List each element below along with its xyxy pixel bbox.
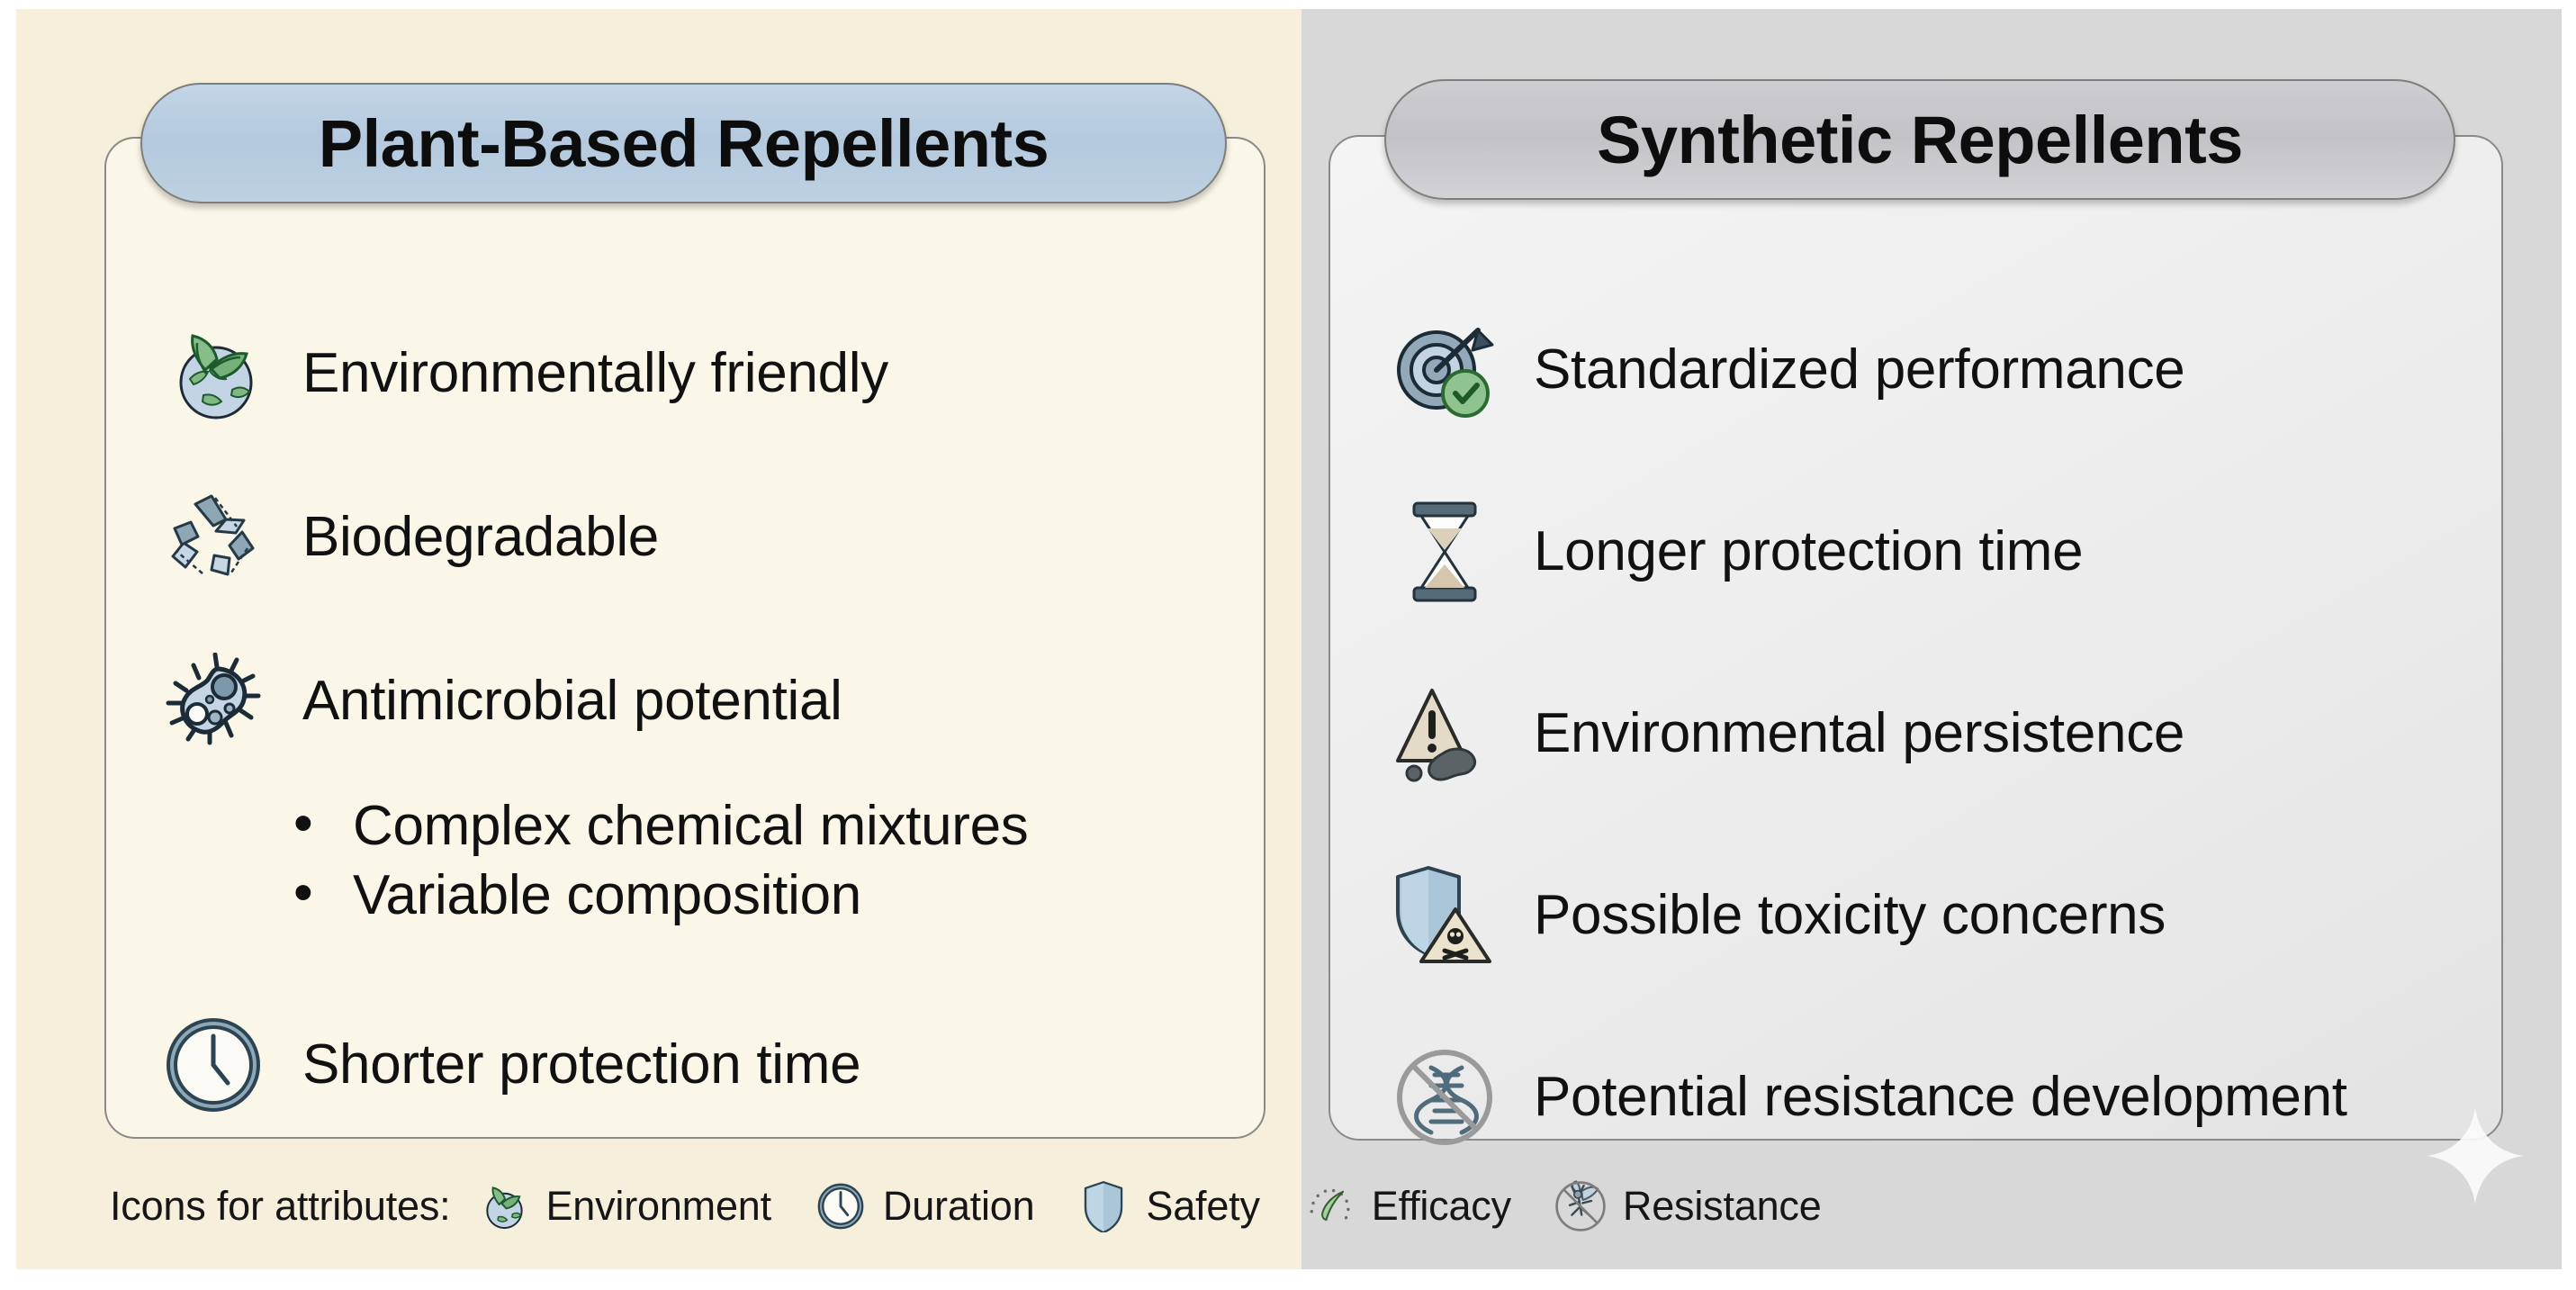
synthetic-title-pill: Synthetic Repellents	[1384, 79, 2455, 200]
feature-label: Environmental persistence	[1534, 704, 2184, 763]
legend-item-resistance: Resistance	[1553, 1178, 1822, 1234]
feature-row: Environmentally friendly	[155, 292, 1264, 456]
clock-icon	[813, 1178, 869, 1234]
feature-label: Longer protection time	[1534, 522, 2083, 582]
feature-row: Biodegradable	[155, 456, 1264, 619]
dna-prohibited-icon	[1386, 1044, 1503, 1150]
feature-label: Shorter protection time	[302, 1035, 860, 1095]
infographic-canvas: Environmentally friendly	[0, 0, 2576, 1290]
legend-title: Icons for attributes:	[110, 1183, 450, 1230]
synthetic-feature-list: Standardized performance Longer protecti…	[1330, 279, 2501, 1188]
list-item: Complex chemical mixtures	[286, 792, 1264, 862]
legend-label: Efficacy	[1372, 1183, 1511, 1230]
feature-row: Shorter protection time	[155, 983, 1264, 1147]
legend-label: Duration	[883, 1183, 1035, 1230]
recycle-icon	[155, 484, 272, 591]
feature-label: Standardized performance	[1534, 340, 2184, 400]
plant-based-repellents-card: Environmentally friendly	[104, 137, 1265, 1139]
page-title: Plant-Based Repellents	[319, 105, 1049, 182]
plant-based-feature-list: Environmentally friendly	[106, 292, 1264, 1147]
feature-label: Biodegradable	[302, 508, 659, 567]
mosquito-prohibited-icon	[1553, 1178, 1608, 1234]
legend-label: Safety	[1146, 1183, 1259, 1230]
plant-based-title-pill: Plant-Based Repellents	[140, 83, 1227, 203]
feature-row: Longer protection time	[1386, 461, 2501, 643]
warning-oil-spill-icon	[1386, 681, 1503, 787]
page-title: Synthetic Repellents	[1597, 102, 2243, 178]
feature-label: Antimicrobial potential	[302, 672, 842, 731]
feature-row: Antimicrobial potential	[155, 619, 1264, 783]
clock-icon	[155, 1012, 272, 1118]
feature-label: Possible toxicity concerns	[1534, 886, 2166, 945]
feature-label: Potential resistance development	[1534, 1068, 2347, 1126]
target-check-icon	[1386, 317, 1503, 423]
feature-row: Standardized performance	[1386, 279, 2501, 461]
legend-bar: Icons for attributes: Environment	[16, 1159, 2562, 1253]
feature-label: Environmentally friendly	[302, 344, 888, 403]
legend-item-efficacy: Efficacy	[1302, 1178, 1511, 1234]
legend-item-environment: Environment	[475, 1178, 770, 1234]
feature-row: Possible toxicity concerns	[1386, 825, 2501, 1006]
efficacy-gauge-icon	[1302, 1178, 1357, 1234]
legend-item-duration: Duration	[813, 1178, 1035, 1234]
feature-row: Environmental persistence	[1386, 643, 2501, 825]
legend-label: Resistance	[1623, 1183, 1822, 1230]
earth-leaf-icon	[155, 320, 272, 427]
synthetic-repellents-card: Standardized performance Longer protecti…	[1329, 135, 2503, 1141]
earth-leaf-icon	[475, 1178, 531, 1234]
microbe-icon	[155, 648, 272, 754]
list-item: Variable composition	[286, 862, 1264, 931]
shield-skull-icon	[1386, 862, 1503, 969]
hourglass-icon	[1386, 499, 1503, 605]
shield-icon	[1076, 1178, 1131, 1234]
plant-based-bullet-list: Complex chemical mixtures Variable compo…	[155, 792, 1264, 931]
legend-label: Environment	[545, 1183, 770, 1230]
legend-item-safety: Safety	[1076, 1178, 1259, 1234]
